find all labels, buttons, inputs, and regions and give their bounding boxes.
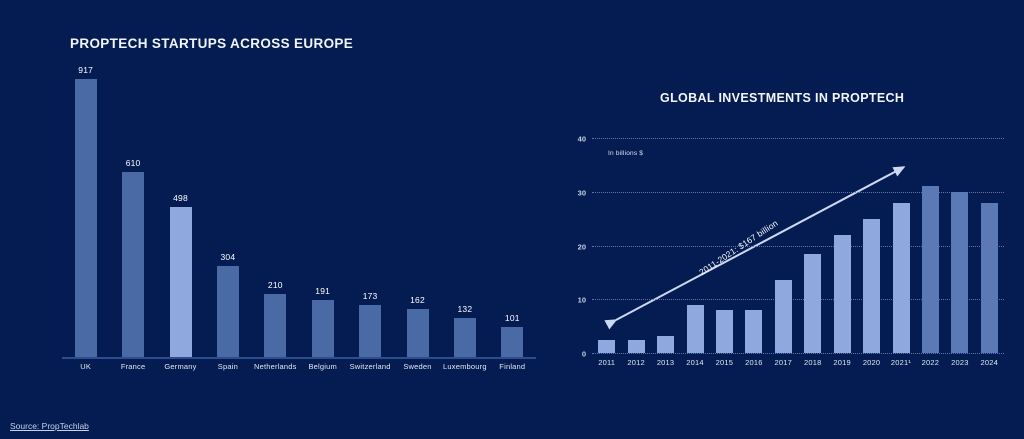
bar-2024 — [981, 203, 998, 354]
category-label: Netherlands — [254, 362, 297, 371]
x-axis-tick-label: 2020 — [863, 358, 881, 367]
category-label: Finland — [499, 362, 525, 371]
x-axis-tick-label: 2013 — [657, 358, 675, 367]
category-label: Luxembourg — [443, 362, 487, 371]
x-axis-tick-label: 2024 — [981, 358, 999, 367]
bar-rect — [312, 300, 334, 358]
bar-germany: 498 — [170, 66, 192, 358]
bar-2011 — [598, 340, 615, 353]
bar-rect — [454, 318, 476, 358]
x-axis-tick-label: 2012 — [627, 358, 645, 367]
bar-2012 — [628, 340, 645, 353]
bar-switzerland: 173 — [359, 66, 381, 358]
bar-rect — [217, 266, 239, 358]
x-axis-tick-label: 2018 — [804, 358, 822, 367]
bar-2020 — [863, 219, 880, 353]
gridline: 10 — [592, 299, 1004, 300]
bar-rect — [122, 172, 144, 358]
bar-2023 — [951, 192, 968, 353]
category-label: Spain — [218, 362, 238, 371]
bar-2014 — [687, 305, 704, 353]
bar-value-label: 304 — [220, 252, 235, 262]
bar-sweden: 162 — [407, 66, 429, 358]
x-axis-tick-label: 2011 — [598, 358, 615, 367]
y-axis-tick-label: 0 — [582, 350, 586, 359]
y-axis-tick-label: 10 — [578, 296, 586, 305]
left-chart-category-labels: UKFranceGermanySpainNetherlandsBelgiumSw… — [62, 362, 536, 378]
y-axis-tick-label: 40 — [578, 135, 586, 144]
bar-belgium: 191 — [312, 66, 334, 358]
right-chart-x-axis-labels: 2011201220132014201520162017201820192020… — [592, 353, 1004, 369]
bar-2022 — [922, 186, 939, 353]
bar-spain: 304 — [217, 66, 239, 358]
x-axis-tick-label: 2015 — [716, 358, 734, 367]
bar-value-label: 917 — [78, 65, 93, 75]
bar-2015 — [716, 310, 733, 353]
bar-rect — [170, 207, 192, 358]
bar-value-label: 610 — [126, 158, 141, 168]
bar-value-label: 101 — [505, 313, 520, 323]
infographic-canvas: PROPTECH STARTUPS ACROSS EUROPE 91761049… — [0, 0, 1024, 439]
bar-2016 — [745, 310, 762, 353]
gridline: 20 — [592, 246, 1004, 247]
x-axis-tick-label: 2014 — [686, 358, 704, 367]
bar-luxembourg: 132 — [454, 66, 476, 358]
x-axis-tick-label: 2022 — [922, 358, 940, 367]
bar-rect — [501, 327, 523, 358]
bar-netherlands: 210 — [264, 66, 286, 358]
category-label: Sweden — [403, 362, 431, 371]
category-label: Switzerland — [350, 362, 391, 371]
bar-value-label: 210 — [268, 280, 283, 290]
bar-value-label: 498 — [173, 193, 188, 203]
gridline: 40 — [592, 138, 1004, 139]
right-chart-axis-note: In billions $ — [608, 150, 643, 157]
bar-2013 — [657, 336, 674, 353]
bar-uk: 917 — [75, 66, 97, 358]
left-chart-bars: 917610498304210191173162132101 — [62, 66, 536, 358]
left-chart-title: PROPTECH STARTUPS ACROSS EUROPE — [70, 36, 353, 51]
x-axis-tick-label: 2016 — [745, 358, 763, 367]
x-axis-tick-label: 2017 — [775, 358, 793, 367]
category-label: Germany — [164, 362, 196, 371]
bar-2017 — [775, 280, 792, 353]
bar-rect — [407, 309, 429, 358]
gridline: 30 — [592, 192, 1004, 193]
bar-rect — [359, 305, 381, 358]
x-axis-tick-label: 2023 — [951, 358, 969, 367]
bar-france: 610 — [122, 66, 144, 358]
x-axis-tick-label: 2019 — [833, 358, 851, 367]
bar-value-label: 162 — [410, 295, 425, 305]
bar-2019 — [834, 235, 851, 353]
y-axis-tick-label: 20 — [578, 242, 586, 251]
right-chart-plot-area: In billions $ 2011-2021: $167 billion 01… — [592, 138, 1004, 353]
bar-value-label: 191 — [315, 286, 330, 296]
left-chart-panel: PROPTECH STARTUPS ACROSS EUROPE 91761049… — [0, 0, 560, 400]
y-axis-tick-label: 30 — [578, 188, 586, 197]
bar-rect — [75, 79, 97, 358]
bar-value-label: 173 — [363, 291, 378, 301]
bar-2018 — [804, 254, 821, 353]
source-link[interactable]: Source: PropTechlab — [10, 421, 89, 431]
bar-2021 — [893, 203, 910, 354]
right-chart-panel: GLOBAL INVESTMENTS IN PROPTECH In billio… — [560, 0, 1024, 400]
bar-value-label: 132 — [457, 304, 472, 314]
x-axis-tick-label: 2021¹ — [891, 358, 911, 367]
right-chart-title: GLOBAL INVESTMENTS IN PROPTECH — [660, 91, 904, 105]
bar-finland: 101 — [501, 66, 523, 358]
bar-rect — [264, 294, 286, 358]
category-label: UK — [80, 362, 91, 371]
category-label: Belgium — [308, 362, 337, 371]
left-chart-baseline — [62, 357, 536, 359]
trend-arrow-annotation: 2011-2021: $167 billion — [697, 218, 780, 277]
category-label: France — [121, 362, 146, 371]
